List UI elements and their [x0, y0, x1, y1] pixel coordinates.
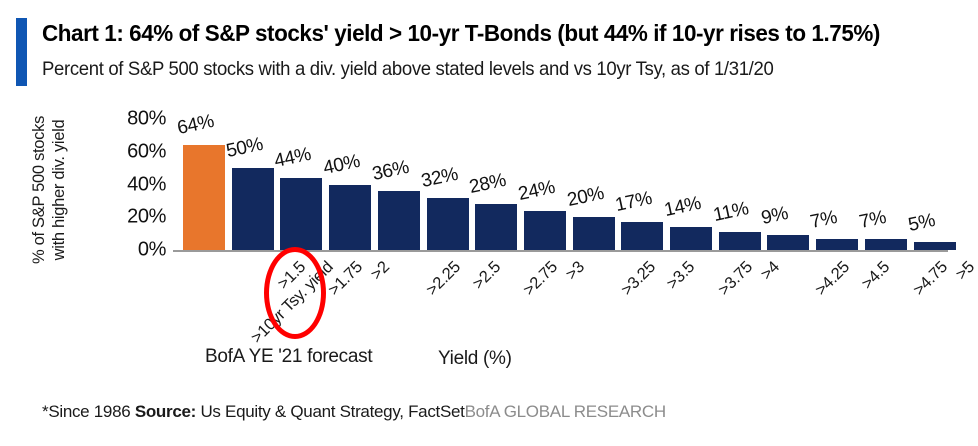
x-axis-tick-label: >4.75 — [910, 258, 952, 300]
bar — [573, 217, 615, 250]
footnote-source-text: Us Equity & Quant Strategy, FactSet — [196, 402, 465, 421]
bar — [329, 185, 371, 251]
bar — [670, 227, 712, 250]
forecast-highlight-ellipse — [264, 247, 326, 339]
x-axis-tick-label: >5 — [952, 258, 978, 284]
bar — [280, 178, 322, 250]
bar-data-label: 9% — [760, 203, 791, 230]
bar-data-label: 40% — [322, 150, 363, 179]
bar-series: 64%>10yr Tsy. yield50%>1.544%>1.7540%>23… — [0, 0, 978, 446]
bar-data-label: 36% — [370, 157, 411, 186]
x-axis-tick-label: >4.25 — [812, 258, 854, 300]
bar-data-label: 50% — [224, 134, 265, 163]
bar-data-label: 17% — [614, 188, 655, 217]
bar-data-label: 5% — [906, 210, 937, 237]
bar-data-label: 11% — [711, 198, 750, 227]
bar-data-label: 7% — [809, 206, 840, 233]
x-axis-tick-label: >4.5 — [858, 258, 894, 294]
bar-data-label: 44% — [273, 144, 314, 173]
bar — [183, 145, 225, 250]
x-axis-tick-label: >2.75 — [520, 258, 562, 300]
bar — [232, 168, 274, 250]
bar — [524, 211, 566, 250]
x-axis-tick-label: >2 — [367, 258, 393, 284]
footnote-research: BofA GLOBAL RESEARCH — [465, 402, 666, 421]
footnote-source-label: Source: — [135, 402, 196, 421]
x-axis-tick-label: >3.75 — [715, 258, 757, 300]
x-axis-tick-label: >3.5 — [663, 258, 699, 294]
bar — [914, 242, 956, 250]
bar — [767, 235, 809, 250]
x-axis-tick-label: >2.25 — [423, 258, 465, 300]
x-axis-tick-label: >3.25 — [617, 258, 659, 300]
footnote: *Since 1986 Source: Us Equity & Quant St… — [42, 402, 666, 422]
bar-data-label: 20% — [565, 183, 606, 212]
chart-plot-area: % of S&P 500 stocks with higher div. yie… — [0, 0, 978, 446]
x-axis-tick-label: >3 — [562, 258, 588, 284]
bar — [719, 232, 761, 250]
bar-data-label: 24% — [516, 177, 557, 206]
bar-data-label: 28% — [468, 170, 509, 199]
x-axis-tick-label: >2.5 — [469, 258, 505, 294]
x-axis-title: Yield (%) — [438, 348, 512, 370]
bar-data-label: 7% — [857, 206, 888, 233]
bar-data-label: 32% — [419, 163, 460, 192]
bar — [378, 191, 420, 250]
x-axis-tick-label: >4 — [757, 258, 783, 284]
bar — [427, 198, 469, 250]
forecast-annotation: BofA YE '21 forecast — [205, 346, 372, 368]
bar — [816, 239, 858, 250]
bar — [621, 222, 663, 250]
bar — [865, 239, 907, 250]
x-axis-tick-label: >1.75 — [325, 258, 367, 300]
bar — [475, 204, 517, 250]
bar-data-label: 64% — [175, 111, 216, 140]
bar-data-label: 14% — [662, 193, 703, 222]
footnote-prefix: *Since 1986 — [42, 402, 135, 421]
